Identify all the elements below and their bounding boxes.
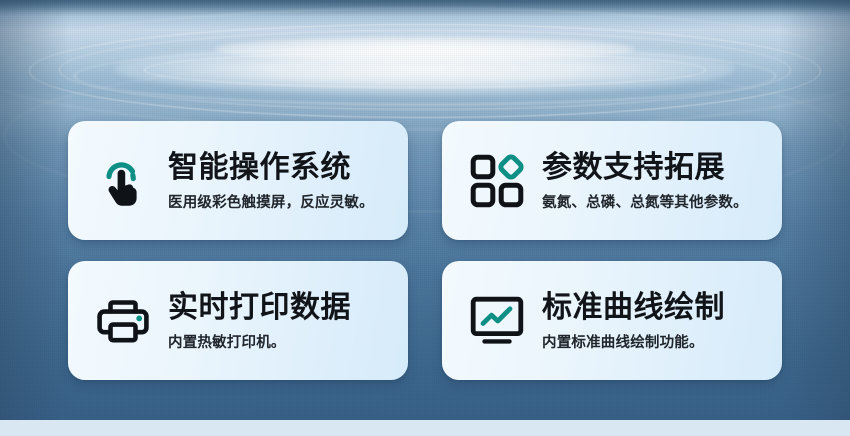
feature-banner: 智能操作系统 医用级彩色触摸屏，反应灵敏。 参数支持拓展 氨氮、总磷、总氮等其他… xyxy=(0,0,850,436)
bottom-band xyxy=(0,420,850,436)
feature-subtitle: 内置热敏打印机。 xyxy=(168,331,351,352)
feature-title: 智能操作系统 xyxy=(168,151,374,185)
feature-card-grid: 智能操作系统 医用级彩色触摸屏，反应灵敏。 参数支持拓展 氨氮、总磷、总氮等其他… xyxy=(68,121,782,380)
background-vignette-left xyxy=(0,0,70,436)
feature-card-parameters[interactable]: 参数支持拓展 氨氮、总磷、总氮等其他参数。 xyxy=(442,121,782,240)
feature-card-text: 实时打印数据 内置热敏打印机。 xyxy=(168,289,351,353)
feature-card-text: 标准曲线绘制 内置标准曲线绘制功能。 xyxy=(542,289,725,353)
feature-card-standard-curve[interactable]: 标准曲线绘制 内置标准曲线绘制功能。 xyxy=(442,261,782,380)
feature-card-printer[interactable]: 实时打印数据 内置热敏打印机。 xyxy=(68,261,408,380)
touch-hand-icon xyxy=(92,150,154,212)
feature-title: 参数支持拓展 xyxy=(542,151,748,185)
feature-title: 标准曲线绘制 xyxy=(542,291,725,325)
ripple-highlight-center xyxy=(215,36,635,62)
feature-card-text: 参数支持拓展 氨氮、总磷、总氮等其他参数。 xyxy=(542,149,748,213)
feature-subtitle: 氨氮、总磷、总氮等其他参数。 xyxy=(542,191,748,212)
feature-card-smart-os[interactable]: 智能操作系统 医用级彩色触摸屏，反应灵敏。 xyxy=(68,121,408,240)
four-shapes-grid-icon xyxy=(466,150,528,212)
feature-card-text: 智能操作系统 医用级彩色触摸屏，反应灵敏。 xyxy=(168,149,374,213)
background-vignette-right xyxy=(780,0,850,436)
feature-subtitle: 医用级彩色触摸屏，反应灵敏。 xyxy=(168,191,374,212)
feature-title: 实时打印数据 xyxy=(168,291,351,325)
printer-icon xyxy=(92,290,154,352)
feature-subtitle: 内置标准曲线绘制功能。 xyxy=(542,331,725,352)
monitor-chart-icon xyxy=(466,290,528,352)
